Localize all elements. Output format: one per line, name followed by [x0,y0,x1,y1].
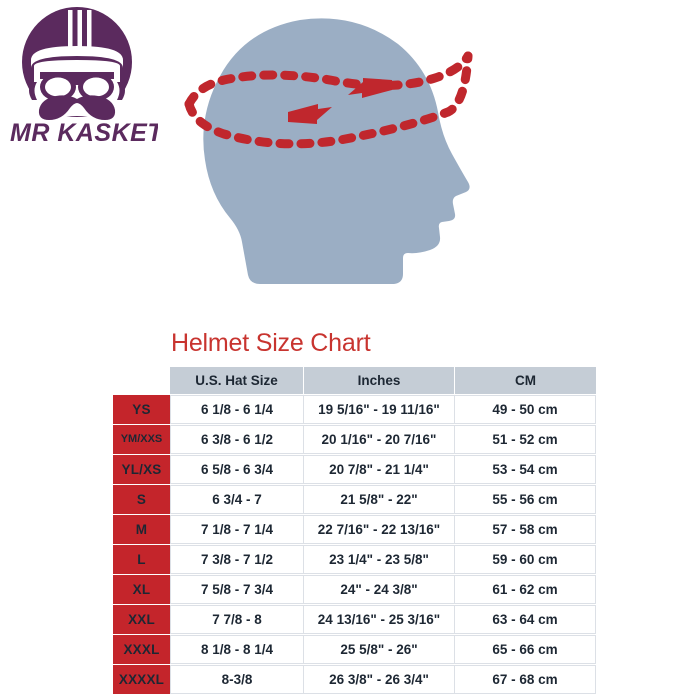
table-row: XXXXL8-3/826 3/8" - 26 3/4"67 - 68 cm [113,665,596,694]
table-row: XXL7 7/8 - 824 13/16" - 25 3/16"63 - 64 … [113,605,596,634]
hat-size-cell: 7 7/8 - 8 [170,605,304,634]
size-label-cell: M [113,515,170,544]
size-label-cell: XL [113,575,170,604]
head-silhouette [203,18,469,284]
table-row: M7 1/8 - 7 1/422 7/16" - 22 13/16"57 - 5… [113,515,596,544]
table-row: YL/XS6 5/8 - 6 3/420 7/8" - 21 1/4"53 - … [113,455,596,484]
size-label-cell: XXL [113,605,170,634]
hat-size-cell: 6 3/4 - 7 [170,485,304,514]
inches-cell: 24" - 24 3/8" [304,575,455,604]
head-profile-measure-illustration [180,8,510,308]
size-label-cell: YS [113,395,170,424]
cm-cell: 49 - 50 cm [455,395,596,424]
cm-cell: 57 - 58 cm [455,515,596,544]
cm-cell: 61 - 62 cm [455,575,596,604]
hat-size-cell: 8 1/8 - 8 1/4 [170,635,304,664]
size-label-cell: XXXXL [113,665,170,694]
table-header-row: U.S. Hat Size Inches CM [113,367,596,394]
header-inches: Inches [304,367,455,394]
inches-cell: 19 5/16" - 19 11/16" [304,395,455,424]
inches-cell: 25 5/8" - 26" [304,635,455,664]
table-row: XL7 5/8 - 7 3/424" - 24 3/8"61 - 62 cm [113,575,596,604]
hat-size-cell: 7 5/8 - 7 3/4 [170,575,304,604]
size-label-cell: L [113,545,170,574]
table-row: L7 3/8 - 7 1/223 1/4" - 23 5/8"59 - 60 c… [113,545,596,574]
size-chart-table: U.S. Hat Size Inches CM YS6 1/8 - 6 1/41… [113,366,596,695]
brand-wordmark: MR KASKET [10,119,158,147]
hat-size-cell: 8-3/8 [170,665,304,694]
hat-size-cell: 6 5/8 - 6 3/4 [170,455,304,484]
cm-cell: 63 - 64 cm [455,605,596,634]
hat-size-cell: 6 3/8 - 6 1/2 [170,425,304,454]
table-row: YS6 1/8 - 6 1/419 5/16" - 19 11/16"49 - … [113,395,596,424]
inches-cell: 22 7/16" - 22 13/16" [304,515,455,544]
hat-size-cell: 6 1/8 - 6 1/4 [170,395,304,424]
hat-size-cell: 7 1/8 - 7 1/4 [170,515,304,544]
cm-cell: 67 - 68 cm [455,665,596,694]
header-cm: CM [455,367,596,394]
hat-size-cell: 7 3/8 - 7 1/2 [170,545,304,574]
size-label-cell: XXXL [113,635,170,664]
cm-cell: 53 - 54 cm [455,455,596,484]
cm-cell: 51 - 52 cm [455,425,596,454]
table-row: YM/XXS6 3/8 - 6 1/220 1/16" - 20 7/16"51… [113,425,596,454]
cm-cell: 65 - 66 cm [455,635,596,664]
inches-cell: 26 3/8" - 26 3/4" [304,665,455,694]
cm-cell: 59 - 60 cm [455,545,596,574]
size-label-cell: YM/XXS [113,425,170,454]
table-row: S6 3/4 - 721 5/8" - 22"55 - 56 cm [113,485,596,514]
header-blank-corner [113,367,170,394]
size-label-cell: S [113,485,170,514]
helmet-size-chart: Helmet Size Chart U.S. Hat Size Inches C… [113,330,598,695]
inches-cell: 24 13/16" - 25 3/16" [304,605,455,634]
chart-title: Helmet Size Chart [171,330,598,358]
inches-cell: 20 1/16" - 20 7/16" [304,425,455,454]
table-row: XXXL8 1/8 - 8 1/425 5/8" - 26"65 - 66 cm [113,635,596,664]
size-label-cell: YL/XS [113,455,170,484]
header-us-hat-size: U.S. Hat Size [170,367,304,394]
cm-cell: 55 - 56 cm [455,485,596,514]
helmet-goggles-mustache-icon [22,7,132,120]
inches-cell: 23 1/4" - 23 5/8" [304,545,455,574]
inches-cell: 21 5/8" - 22" [304,485,455,514]
inches-cell: 20 7/8" - 21 1/4" [304,455,455,484]
brand-logo: MR KASKET [8,4,158,154]
